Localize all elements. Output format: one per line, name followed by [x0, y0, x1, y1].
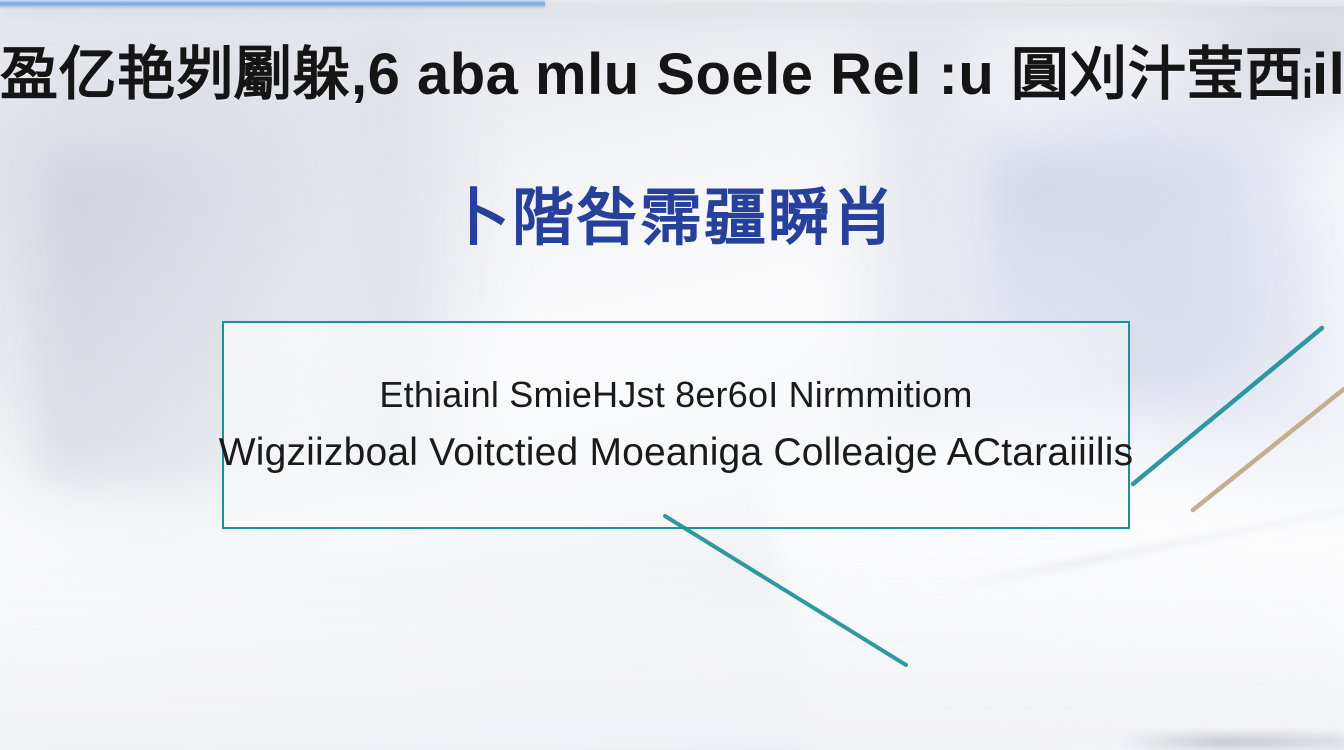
- content-box: Ethiainl SmieHJst 8er6oI Nirmmitiom Wigz…: [222, 321, 1130, 529]
- background-bottom-band: [0, 560, 1344, 750]
- content-box-line-2: Wigziizboal Voitctied Moeaniga Colleaige…: [219, 430, 1134, 476]
- top-progress-track[interactable]: [0, 0, 1344, 7]
- top-progress-fill: [0, 0, 545, 7]
- background-bottom-shadow: [1120, 736, 1344, 748]
- page-title: 盈亿艳刿劚躲,6 aba mlu Soele Rel :u 圓刈汁莹西ᵢilit…: [0, 46, 1344, 104]
- slide-canvas: 盈亿艳刿劚躲,6 aba mlu Soele Rel :u 圓刈汁莹西ᵢilit…: [0, 0, 1344, 750]
- page-subtitle: 卜階咎霈疆瞬肖: [0, 188, 1344, 250]
- content-box-line-1: Ethiainl SmieHJst 8er6oI Nirmmitiom: [379, 374, 972, 416]
- background-top-strip: [0, 8, 1344, 36]
